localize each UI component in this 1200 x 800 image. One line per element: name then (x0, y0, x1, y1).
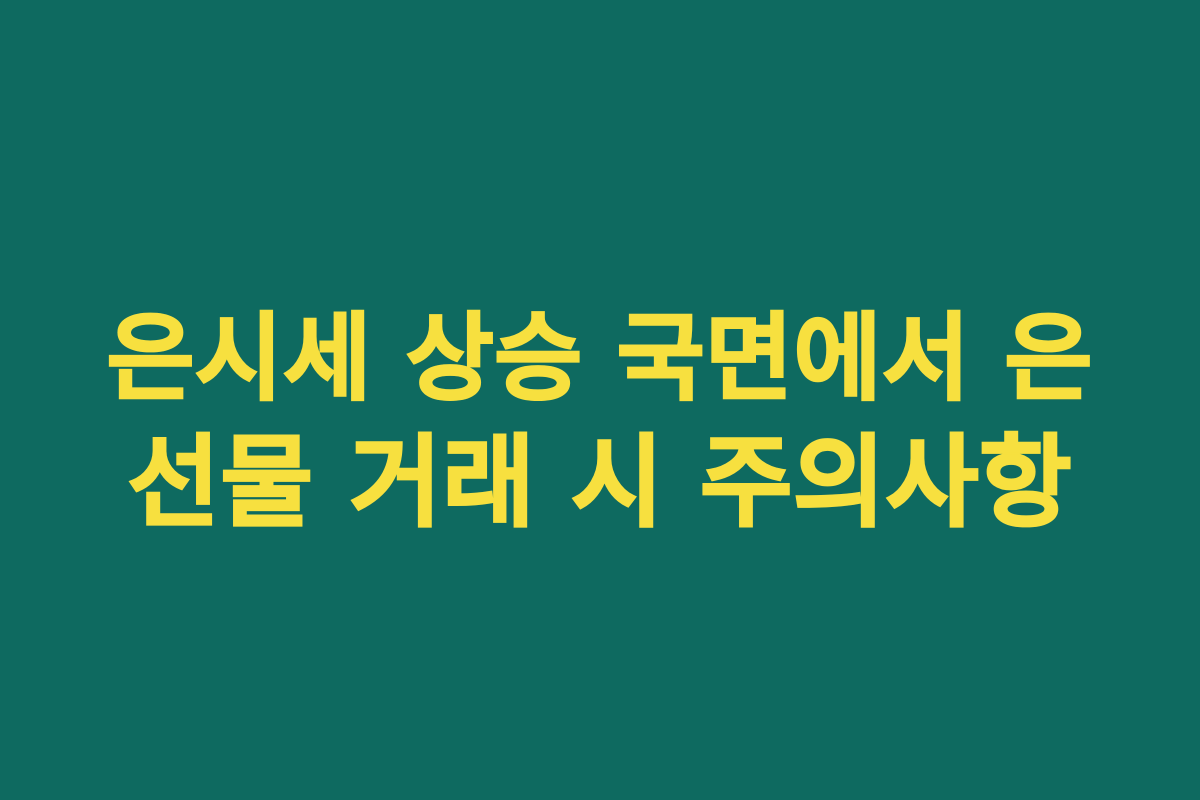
title-line-1: 은시세 상승 국면에서 은 (107, 297, 1093, 421)
title-line-2: 선물 거래 시 주의사항 (128, 421, 1072, 545)
banner-canvas: 은시세 상승 국면에서 은 선물 거래 시 주의사항 (0, 0, 1200, 800)
title-block: 은시세 상승 국면에서 은 선물 거래 시 주의사항 (40, 297, 1160, 545)
